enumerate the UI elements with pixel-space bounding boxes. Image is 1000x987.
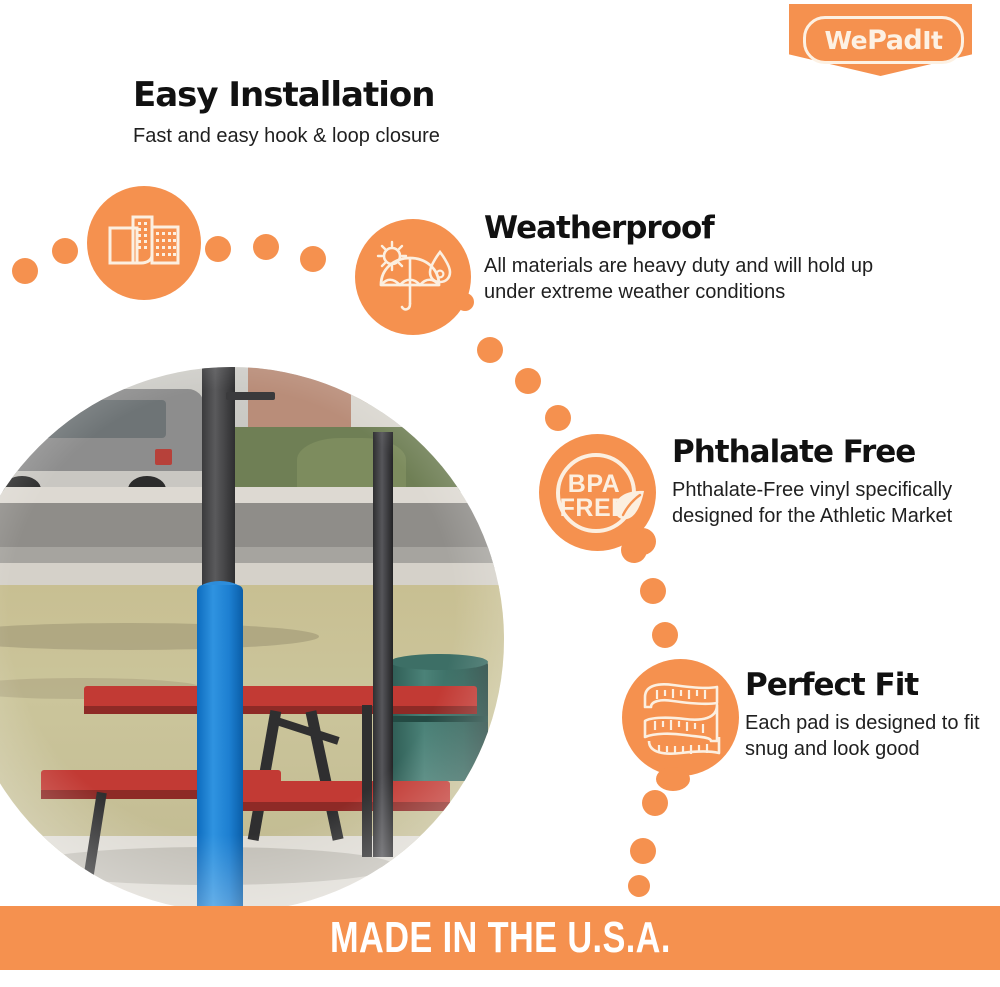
- sun-umbrella-raindrop-icon: [355, 219, 471, 335]
- logo-word-we: We: [824, 26, 867, 55]
- feature-description: Phthalate-Free vinyl specifically design…: [672, 477, 972, 530]
- trail-dot: [52, 238, 78, 264]
- photo-vignette: [0, 367, 504, 912]
- made-in-usa-text: MADE IN THE U.S.A.: [330, 916, 671, 960]
- feature-perfect-fit: Perfect Fit Each pad is designed to fit …: [745, 669, 985, 762]
- trail-dot: [515, 368, 541, 394]
- made-in-usa-banner: MADE IN THE U.S.A.: [0, 906, 1000, 970]
- trail-dot: [477, 337, 503, 363]
- feature-title: Easy Installation: [133, 78, 563, 114]
- feature-title: Weatherproof: [484, 212, 914, 245]
- trail-dot: [652, 622, 678, 648]
- feature-description: All materials are heavy duty and will ho…: [484, 253, 914, 306]
- trail-dot: [300, 246, 326, 272]
- logo-word-it: It: [922, 26, 942, 55]
- logo-word-pad: Pad: [867, 25, 922, 56]
- product-photo: [0, 367, 504, 912]
- bubble-nub: [456, 293, 474, 311]
- feature-title: Phthalate Free: [672, 436, 972, 469]
- feature-description: Each pad is designed to fit snug and loo…: [745, 710, 985, 763]
- feature-weatherproof: Weatherproof All materials are heavy dut…: [484, 212, 914, 305]
- trail-dot: [205, 236, 231, 262]
- feature-easy-installation: Easy Installation Fast and easy hook & l…: [133, 78, 563, 149]
- hook-and-loop-icon: [87, 186, 201, 300]
- logo-wordmark: WePadIt: [824, 27, 942, 54]
- bpa-free-leaf-icon: BPA FREE: [539, 434, 656, 551]
- logo-outline-frame: WePadIt: [803, 16, 964, 64]
- feature-description: Fast and easy hook & loop closure: [133, 123, 563, 149]
- trail-dot: [545, 405, 571, 431]
- trail-dot: [640, 578, 666, 604]
- trail-dot: [642, 790, 668, 816]
- measuring-tape-icon: [622, 659, 739, 776]
- bubble-nub: [656, 767, 690, 791]
- brand-logo[interactable]: WePadIt: [789, 4, 972, 76]
- trail-dot: [253, 234, 279, 260]
- bubble-nub: [629, 528, 656, 555]
- infographic-sheet: WePadIt: [0, 0, 1000, 987]
- trail-dot: [12, 258, 38, 284]
- trail-dot: [630, 838, 656, 864]
- feature-phthalate-free: Phthalate Free Phthalate-Free vinyl spec…: [672, 436, 972, 529]
- trail-dot: [628, 875, 650, 897]
- feature-title: Perfect Fit: [745, 669, 985, 702]
